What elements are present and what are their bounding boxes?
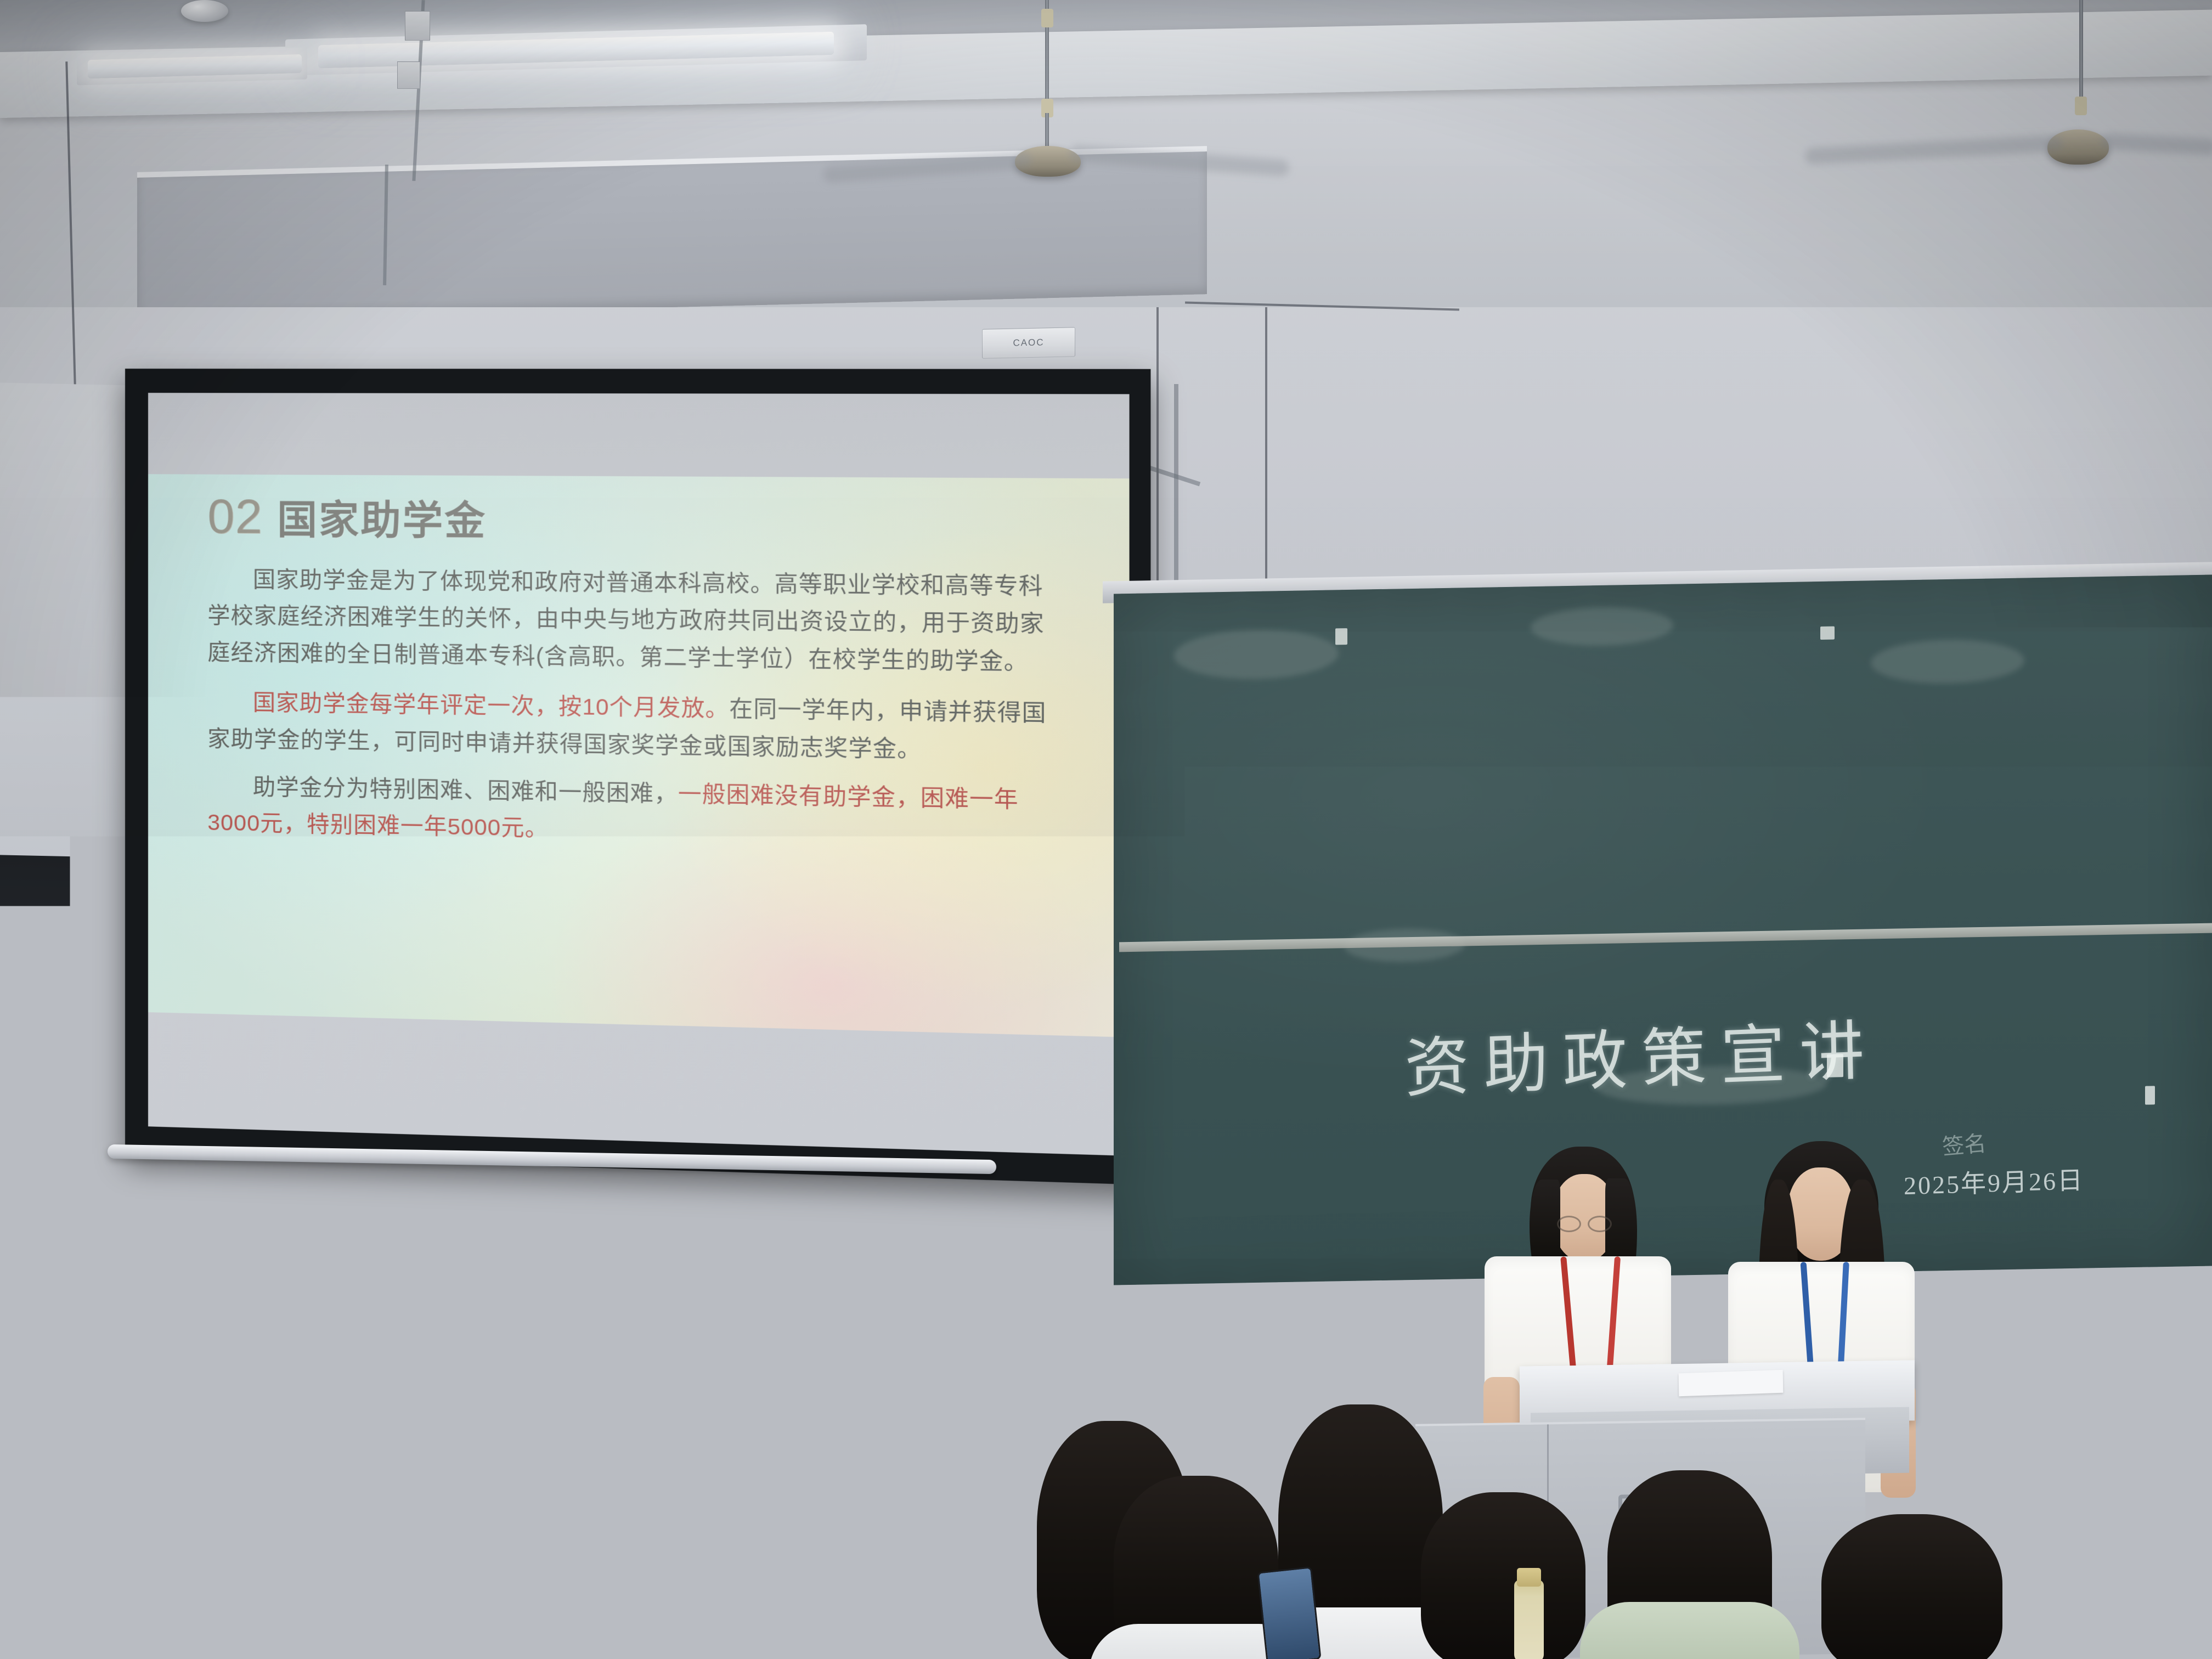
projection-screen: 02 国家助学金 国家助学金是为了体现党和政府对普通本科高校。高等职业学校和高等… (125, 369, 1150, 1185)
chalk-holder (1196, 1339, 1206, 1369)
classroom-photo: CAOC 02 国家助学金 国家助学金是为了体现党和政府对普通本科高校。高等职业… (0, 0, 2212, 1659)
presenter-left-glasses (1588, 1216, 1612, 1232)
chalk-smear (1531, 606, 1673, 647)
presentation-slide: 02 国家助学金 国家助学金是为了体现党和政府对普通本科高校。高等职业学校和高等… (148, 474, 1130, 1037)
slide-paragraph-3: 助学金分为特别困难、困难和一般困难，一般困难没有助学金，困难一年3000元，特别… (207, 768, 1058, 856)
presentation-notes-paper (1679, 1370, 1784, 1397)
audience-head (746, 1383, 867, 1525)
presenter-left-glasses (1557, 1216, 1581, 1232)
chalk-piece (1820, 627, 1835, 640)
audience-hair (554, 1459, 710, 1659)
chalk-piece (1335, 628, 1347, 645)
audience-hair (1997, 1481, 2178, 1659)
smartphone[interactable] (1257, 1566, 1321, 1659)
pendant-ferrule (1041, 9, 1053, 27)
white-cap (0, 1425, 187, 1584)
wall-speaker: CAOC (982, 327, 1075, 359)
audience-hair (1821, 1514, 2002, 1659)
chalk-smear (1174, 628, 1339, 680)
slide-paragraph-2: 国家助学金每学年评定一次，按10个月发放。在同一学年内，申请并获得国家助学金的学… (207, 684, 1058, 770)
medicine-box (1147, 1345, 1171, 1397)
chalk-piece (2145, 1086, 2155, 1104)
blackboard-scribble: 签名 (1941, 1126, 1988, 1161)
wire-junction-box (397, 61, 420, 89)
ceiling-fan-ferrule (2075, 97, 2087, 115)
screen-cloth: 02 国家助学金 国家助学金是为了体现党和政府对普通本科高校。高等职业学校和高等… (148, 393, 1130, 1156)
slide-paragraph-1: 国家助学金是为了体现党和政府对普通本科高校。高等职业学校和高等专科学校家庭经济困… (207, 561, 1058, 681)
slide-run: 助学金分为特别困难、困难和一般困难， (253, 774, 678, 807)
wall-dark-recess (0, 855, 82, 1109)
ceiling-fan-rod (2079, 0, 2083, 102)
chalk-smear (1871, 638, 2024, 685)
blackboard-date-text: 2025年9月26日 (1904, 1160, 2085, 1202)
slide-number: 02 (207, 488, 263, 545)
microphone-base (1306, 1368, 1393, 1393)
water-bottle (1514, 1580, 1544, 1659)
tissue-box (1114, 1347, 1140, 1397)
wall-conduit (1174, 384, 1178, 582)
wire-junction-box (405, 11, 430, 41)
chalk-holder (1255, 1338, 1263, 1377)
blackboard-title-text: 资助政策宣讲 (1403, 997, 1879, 1109)
audience-hair (1421, 1492, 1585, 1659)
smoke-detector-icon (181, 0, 228, 22)
audience-shoulders (1580, 1602, 1799, 1659)
microphone-head (1317, 1310, 1328, 1324)
ceiling-soffit (137, 151, 1207, 320)
audience-hair (384, 1488, 554, 1659)
slide-run-highlight: 国家助学金每学年评定一次，按10个月发放。 (253, 690, 730, 721)
slide-title: 02 国家助学金 (207, 487, 1058, 551)
water-bottle-cap (1517, 1568, 1541, 1587)
slide-heading: 国家助学金 (277, 487, 487, 546)
audience-shoulders (148, 1607, 384, 1659)
slide-run: 国家助学金是为了体现党和政府对普通本科高校。高等职业学校和高等专科学校家庭经济困… (207, 567, 1045, 675)
